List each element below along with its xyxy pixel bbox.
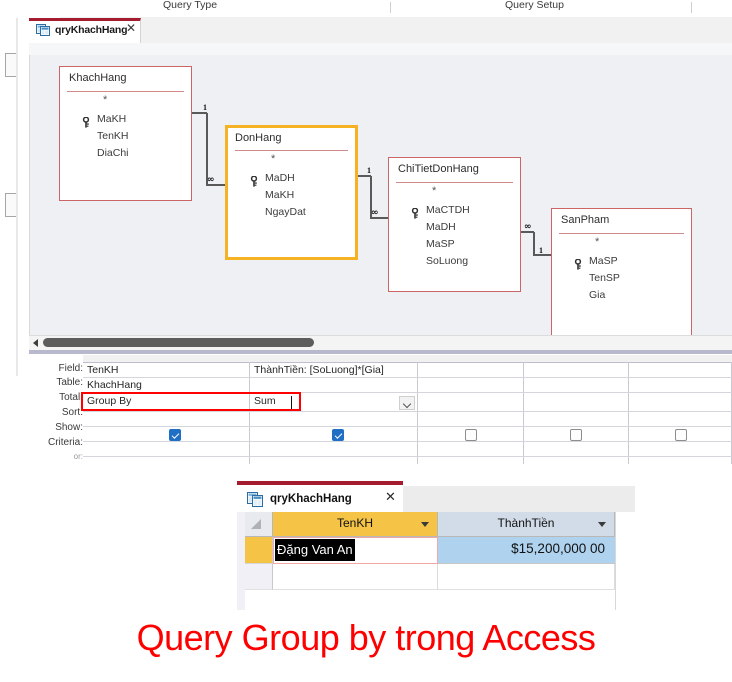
table-box-rule (559, 233, 684, 234)
canvas-top-band (29, 43, 732, 55)
chevron-down-icon[interactable] (421, 522, 429, 527)
datasheet-cell-tenkh[interactable]: Đặng Van An (273, 537, 438, 564)
join-label-many: ∞ (371, 208, 379, 218)
datasheet-new-row-selector[interactable] (245, 564, 273, 590)
datasheet-new-row-cell-tenkh[interactable] (273, 564, 438, 590)
datasheet-column-header-tenkh[interactable]: TenKH (273, 512, 438, 537)
table-box-title: SanPham (561, 214, 609, 226)
field-row[interactable]: * (60, 95, 191, 112)
ribbon-group-query-type: Query Type (163, 0, 217, 11)
field-row[interactable]: * (228, 154, 355, 171)
field-row[interactable]: TenSP (552, 271, 691, 288)
field-name: SoLuong (426, 255, 468, 267)
field-name: MaDH (426, 221, 456, 233)
field-name: MaKH (265, 189, 294, 201)
column-header-label: ThànhTiền (438, 516, 614, 530)
show-checkbox-5[interactable] (675, 429, 687, 441)
field-row[interactable]: SoLuong (389, 254, 520, 271)
show-checkbox-3[interactable] (465, 429, 477, 441)
field-row[interactable]: TenKH (60, 129, 191, 146)
grid-row-label-total: Total: (59, 392, 83, 403)
field-row[interactable]: * (389, 186, 520, 203)
join-label-many: ∞ (524, 222, 532, 232)
column-header-label: TenKH (273, 516, 437, 530)
datasheet-cell-thanhtien[interactable]: $15,200,000 00 (438, 537, 615, 564)
table-box-chitietdonhang[interactable]: ChiTietDonHang * MaCTDH MaDH MaSP SoLuon… (388, 157, 521, 292)
field-name: MaSP (426, 238, 455, 250)
field-name: TenSP (589, 272, 620, 284)
grid-cell-table-1[interactable]: KhachHang (87, 379, 142, 391)
field-name: * (432, 185, 436, 197)
document-tab-label: qryKhachHang (55, 24, 127, 36)
scroll-left-arrow-icon[interactable] (33, 339, 38, 347)
field-name: * (103, 94, 107, 106)
datasheet-column-header-thanhtien[interactable]: ThànhTiền (438, 512, 615, 537)
field-row[interactable]: * (552, 237, 691, 254)
grid-row-label-show: Show: (55, 422, 83, 433)
show-checkbox-1[interactable] (169, 429, 181, 441)
query-design-icon (36, 22, 51, 37)
datasheet-right-margin (615, 512, 636, 610)
total-row-highlight-annotation (81, 392, 301, 411)
field-row[interactable]: MaDH (228, 171, 355, 188)
field-name: Gia (589, 289, 605, 301)
navigation-pane-edge (0, 18, 16, 376)
grid-row-label-or: or: (74, 452, 83, 461)
field-name: NgayDat (265, 206, 306, 218)
table-box-title: KhachHang (69, 72, 127, 84)
join-label-many: ∞ (207, 175, 215, 185)
field-name: MaDH (265, 172, 295, 184)
chevron-down-icon[interactable] (598, 522, 606, 527)
ribbon-group-strip: Query Type Query Setup (0, 0, 732, 18)
field-name: * (271, 153, 275, 165)
ribbon-group-query-setup: Query Setup (505, 0, 564, 11)
grid-cells[interactable]: TenKH KhachHang Group By ThànhTiền: [SoL… (83, 362, 732, 464)
datasheet-tab-label: qryKhachHang (270, 493, 352, 505)
grid-row-label-field: Field: (59, 363, 83, 374)
show-checkbox-4[interactable] (570, 429, 582, 441)
table-box-rule (235, 150, 348, 151)
ribbon-separator (390, 2, 391, 13)
field-name: DiaChi (97, 147, 129, 159)
field-name: MaSP (589, 255, 618, 267)
table-box-rule (396, 182, 513, 183)
field-name: MaKH (97, 113, 126, 125)
horizontal-scroll-thumb[interactable] (43, 338, 314, 347)
field-row[interactable]: Gia (552, 288, 691, 305)
table-box-sanpham[interactable]: SanPham * MaSP TenSP Gia (551, 208, 692, 343)
query-datasheet-icon (247, 490, 264, 508)
close-icon[interactable]: ✕ (385, 490, 396, 504)
datasheet-new-row-cell-thanhtien[interactable] (438, 564, 615, 590)
page-caption: Query Group by trong Access (0, 617, 732, 659)
grid-row-label-sort: Sort: (62, 407, 83, 418)
field-name: * (595, 236, 599, 248)
grid-row-label-criteria: Criteria: (48, 437, 83, 448)
corner-triangle-icon (251, 519, 261, 529)
datasheet-cell-value: Đặng Van An (275, 539, 355, 561)
datasheet-left-margin (237, 512, 245, 610)
field-row[interactable]: MaDH (389, 220, 520, 237)
grid-row-label-table: Table: (56, 377, 83, 388)
primary-key-icon (82, 115, 90, 125)
field-row[interactable]: MaSP (552, 254, 691, 271)
ribbon-separator (691, 2, 692, 13)
field-row[interactable]: MaKH (60, 112, 191, 129)
datasheet-row-selector[interactable] (245, 537, 273, 564)
datasheet-cell-value: $15,200,000 00 (511, 541, 605, 556)
grid-cell-field-1[interactable]: TenKH (87, 364, 119, 376)
select-all-corner-button[interactable] (245, 512, 273, 537)
field-row[interactable]: DiaChi (60, 146, 191, 163)
join-label-one: 1 (367, 166, 371, 175)
table-box-khachhang[interactable]: KhachHang * MaKH TenKH DiaChi (59, 66, 192, 201)
navigation-pane-gap (18, 18, 29, 376)
field-row[interactable]: NgayDat (228, 205, 355, 222)
join-label-one: 1 (539, 246, 543, 255)
primary-key-icon (411, 206, 419, 216)
join-label-one: 1 (203, 103, 207, 112)
field-row[interactable]: MaKH (228, 188, 355, 205)
table-box-title: DonHang (235, 132, 281, 144)
field-name: MaCTDH (426, 204, 470, 216)
field-row[interactable]: MaCTDH (389, 203, 520, 220)
field-name: TenKH (97, 130, 129, 142)
datasheet-tab-bar (403, 486, 635, 512)
field-row[interactable]: MaSP (389, 237, 520, 254)
show-checkbox-2[interactable] (332, 429, 344, 441)
table-box-title: ChiTietDonHang (398, 163, 479, 175)
primary-key-icon (574, 257, 582, 267)
close-icon[interactable]: ✕ (126, 22, 136, 34)
table-box-donhang[interactable]: DonHang * MaDH MaKH NgayDat (225, 125, 358, 260)
primary-key-icon (250, 174, 258, 184)
table-box-rule (67, 91, 184, 92)
grid-cell-field-2[interactable]: ThànhTiền: [SoLuong]*[Gia] (254, 364, 384, 376)
